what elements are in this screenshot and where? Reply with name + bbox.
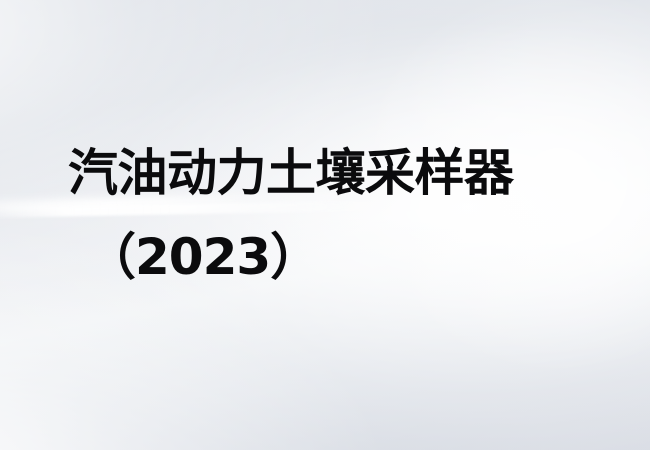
- title-slide: 汽油动力土壤采样器 （2023）: [0, 0, 650, 450]
- slide-title-primary: 汽油动力土壤采样器: [68, 148, 514, 198]
- slide-title-year: （2023）: [86, 232, 319, 282]
- title-text-block: 汽油动力土壤采样器 （2023）: [0, 0, 650, 450]
